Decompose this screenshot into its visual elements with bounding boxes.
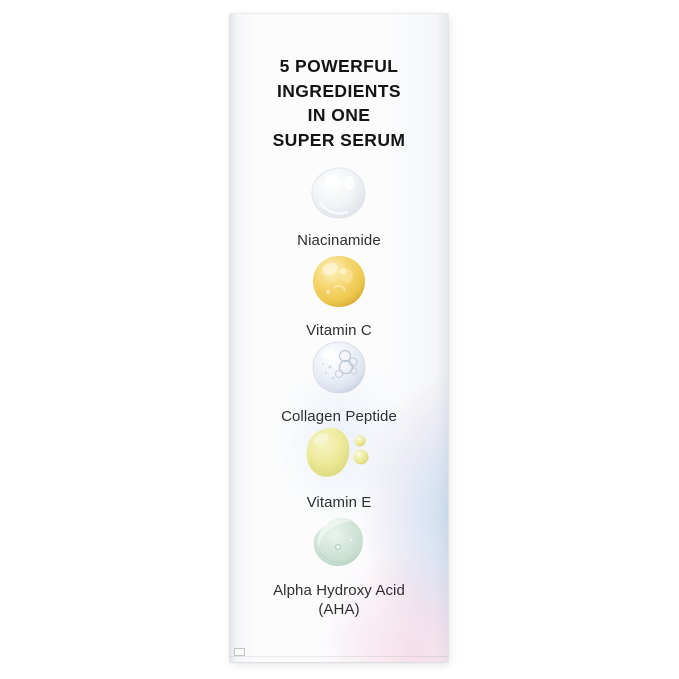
ingredient-label: Vitamin E <box>230 493 448 512</box>
mint-serum-drop-icon <box>230 514 448 576</box>
golden-serum-drop-icon <box>230 254 448 316</box>
ingredient-name: Vitamin C <box>306 322 372 339</box>
headline-line-2: INGREDIENTS <box>230 79 448 104</box>
ingredient-label: Collagen Peptide <box>230 407 448 426</box>
ingredient-item-niacinamide: Niacinamide <box>230 164 448 250</box>
ingredient-item-vitamin-e: Vitamin E <box>230 426 448 512</box>
pale-yellow-serum-drop-icon <box>230 426 448 488</box>
product-infographic: 5 POWERFUL INGREDIENTS IN ONE SUPER SERU… <box>0 0 679 679</box>
ingredient-label: Vitamin C <box>230 321 448 340</box>
ingredient-item-vitamin-c: Vitamin C <box>230 254 448 340</box>
clear-serum-drop-icon <box>230 164 448 226</box>
headline: 5 POWERFUL INGREDIENTS IN ONE SUPER SERU… <box>230 54 448 152</box>
ingredient-label: Alpha Hydroxy Acid (AHA) <box>230 581 448 619</box>
headline-line-4: SUPER SERUM <box>230 128 448 153</box>
ingredient-name: Collagen Peptide <box>281 408 397 425</box>
serum-box-panel: 5 POWERFUL INGREDIENTS IN ONE SUPER SERU… <box>230 14 448 662</box>
headline-line-1: 5 POWERFUL <box>230 54 448 79</box>
bubbly-serum-drop-icon <box>230 340 448 402</box>
ingredient-item-collagen-peptide: Collagen Peptide <box>230 340 448 426</box>
ingredient-name-line2: (AHA) <box>230 600 448 619</box>
ingredient-name: Niacinamide <box>297 232 381 249</box>
headline-line-3: IN ONE <box>230 103 448 128</box>
ingredient-label: Niacinamide <box>230 231 448 250</box>
ingredient-name: Alpha Hydroxy Acid <box>273 582 405 599</box>
ingredient-item-alpha-hydroxy-acid: Alpha Hydroxy Acid (AHA) <box>230 514 448 619</box>
ingredient-name: Vitamin E <box>307 494 372 511</box>
